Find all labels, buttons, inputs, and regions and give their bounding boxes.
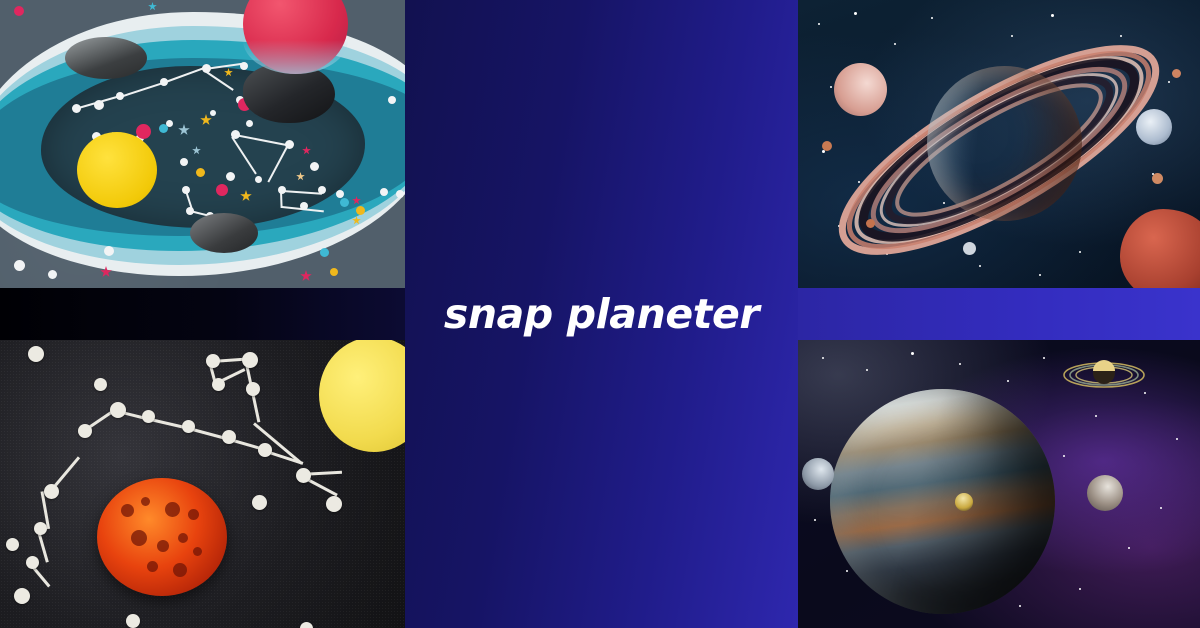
- constellation-star: [26, 556, 39, 569]
- image-tile-bottom-left[interactable]: [0, 340, 405, 628]
- confetti-dot: [330, 268, 338, 276]
- constellation-star: [246, 382, 260, 396]
- constellation-star: [326, 496, 342, 512]
- constellation-star: [14, 588, 30, 604]
- image-tile-top-right[interactable]: [798, 0, 1200, 288]
- star-dot: [246, 120, 253, 127]
- constellation-star: [160, 78, 168, 86]
- planet-mars[interactable]: [97, 478, 227, 596]
- star-dot: [180, 158, 188, 166]
- row-gap-right: [798, 288, 1200, 340]
- image-tile-bottom-right[interactable]: [798, 340, 1200, 628]
- star-dot: [255, 176, 262, 183]
- confetti-dot: [196, 168, 205, 177]
- constellation-star: [300, 202, 308, 210]
- moon-left: [802, 458, 834, 490]
- constellation-star: [318, 186, 326, 194]
- confetti-dot: [159, 124, 168, 133]
- star-dot: [14, 6, 24, 16]
- papercraft-space-scene: [0, 0, 405, 288]
- constellation-star: [78, 424, 92, 438]
- constellation-star: [142, 410, 155, 423]
- brand-area: snap planeter: [405, 0, 798, 628]
- star-dot: [210, 110, 216, 116]
- constellation-star: [222, 430, 236, 444]
- star-dot: [310, 162, 319, 171]
- confetti-dot: [340, 198, 349, 207]
- poster-canvas: snap planeter: [0, 0, 1200, 628]
- confetti-dot: [356, 206, 365, 215]
- sun-planet: [77, 132, 157, 208]
- constellation-star: [226, 172, 235, 181]
- constellation-star: [240, 62, 248, 70]
- moon-blue: [1136, 109, 1172, 145]
- star-dot: [48, 270, 57, 279]
- star-dot: [28, 346, 44, 362]
- star-dot: [6, 538, 19, 551]
- star-dot: [396, 190, 404, 198]
- constellation-star: [206, 354, 220, 368]
- constellation-star: [34, 522, 47, 535]
- star-dot: [94, 100, 104, 110]
- constellation-star: [182, 186, 190, 194]
- row-gap-left: [0, 288, 405, 340]
- constellation-star: [231, 130, 240, 139]
- star-dot: [94, 378, 107, 391]
- star-dot: [104, 246, 114, 256]
- constellation-star: [186, 207, 194, 215]
- small-ringed-planet: [1063, 357, 1145, 393]
- constellation-star: [44, 484, 59, 499]
- ringed-planet-scene: [798, 0, 1200, 288]
- planet-pink: [243, 0, 348, 74]
- gas-giant-nebula-scene: [798, 340, 1200, 628]
- constellation-star: [278, 186, 286, 194]
- small-rock: [1172, 69, 1181, 78]
- star-dot: [14, 260, 25, 271]
- constellation-star: [242, 352, 258, 368]
- star-dot: [126, 614, 140, 628]
- confetti-dot: [136, 124, 151, 139]
- image-tile-top-left[interactable]: [0, 0, 405, 288]
- small-rock: [1152, 173, 1163, 184]
- star-dot: [388, 96, 396, 104]
- constellation-star: [116, 92, 124, 100]
- constellation-star: [72, 104, 81, 113]
- constellation-craft-scene: [0, 340, 405, 628]
- constellation-star: [212, 378, 225, 391]
- page-title: snap planeter: [444, 294, 759, 335]
- star-dot: [380, 188, 388, 196]
- confetti-dot: [216, 184, 228, 196]
- constellation-star: [252, 495, 267, 510]
- constellation-star: [110, 402, 126, 418]
- moon-foreground: [955, 493, 973, 511]
- constellation-star: [182, 420, 195, 433]
- constellation-star: [296, 468, 311, 483]
- constellation-star: [202, 64, 211, 73]
- confetti-dot: [320, 248, 329, 257]
- constellation-star: [258, 443, 272, 457]
- star-dot: [336, 190, 344, 198]
- star-dot: [300, 622, 313, 628]
- constellation-star: [285, 140, 294, 149]
- gas-giant-shading: [830, 389, 1055, 614]
- small-rock: [963, 242, 976, 255]
